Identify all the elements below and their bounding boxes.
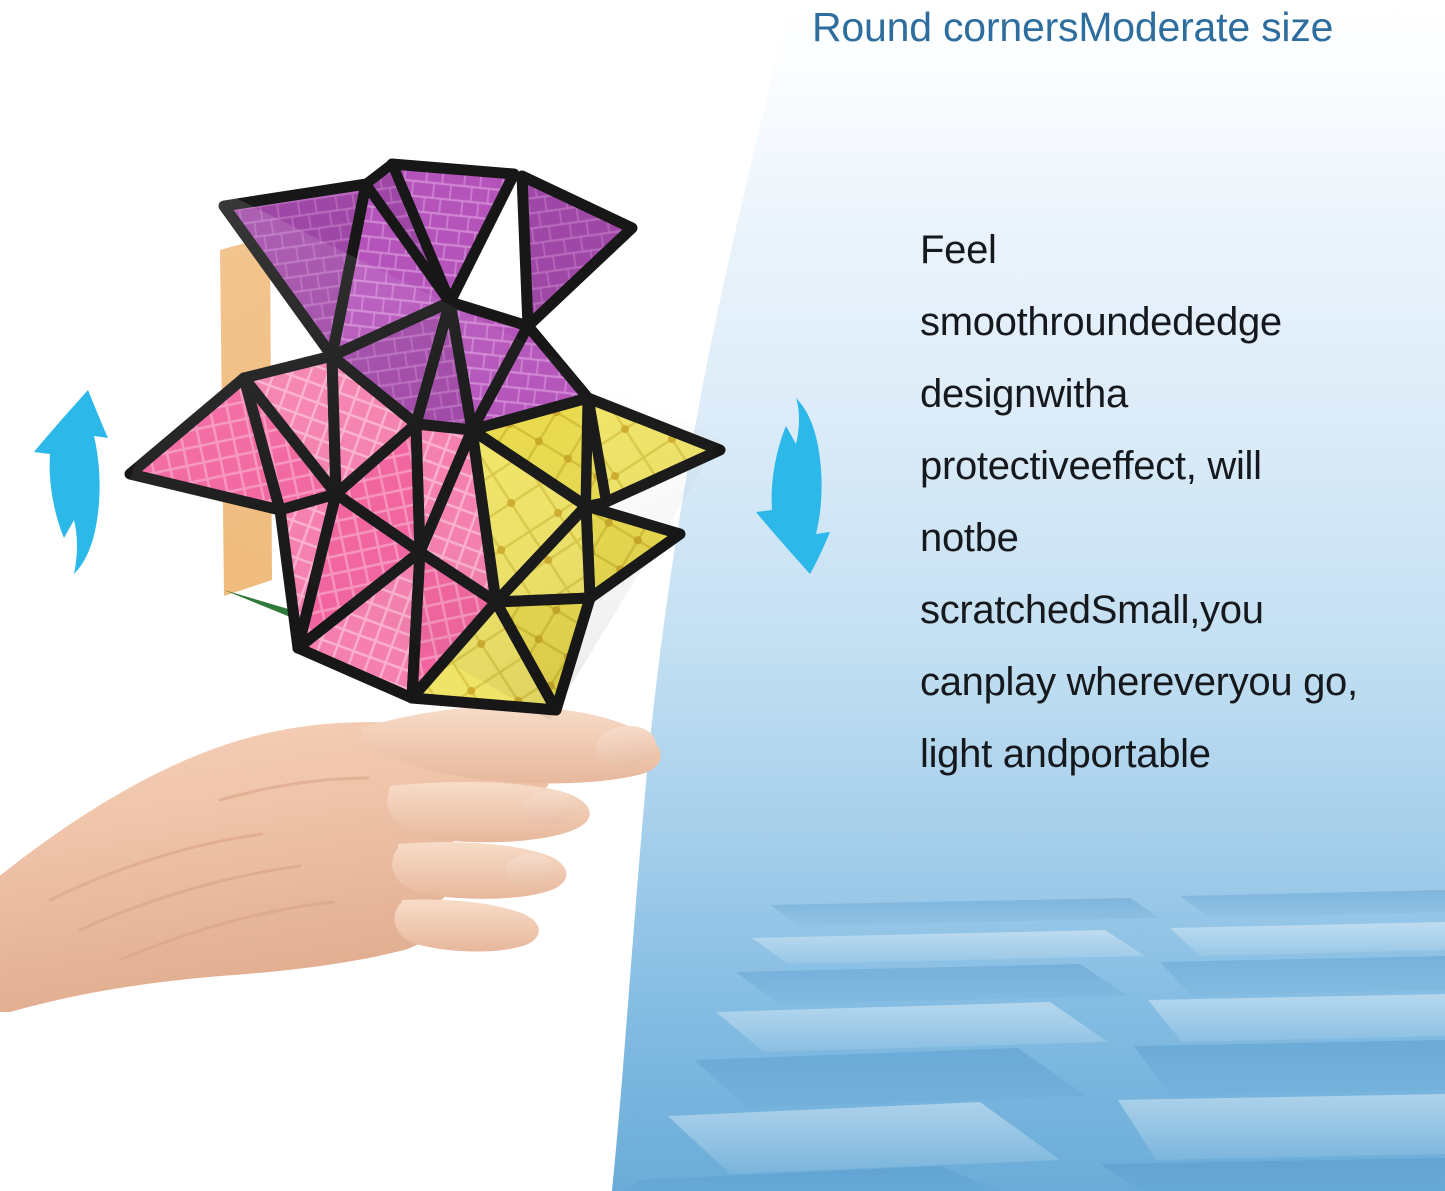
description-line: scratchedSmall,you xyxy=(920,574,1420,646)
rotate-down-arrow-icon xyxy=(752,396,858,576)
description-line: canplay whereveryou go, xyxy=(920,646,1420,718)
description-line: light andportable xyxy=(920,718,1420,790)
description-line: smoothroundededge xyxy=(920,286,1420,358)
rotate-up-arrow-icon xyxy=(26,386,134,576)
description-line: designwitha xyxy=(920,358,1420,430)
product-image-canvas: Round cornersModerate size Feel smoothro… xyxy=(0,0,1445,1191)
page-title: Round cornersModerate size xyxy=(812,4,1432,51)
description-line: Feel xyxy=(920,214,1420,286)
description-text: Feel smoothroundededge designwitha prote… xyxy=(920,214,1420,790)
description-line: notbe xyxy=(920,502,1420,574)
magic-star-cube xyxy=(120,150,760,740)
description-line: protectiveeffect, will xyxy=(920,430,1420,502)
